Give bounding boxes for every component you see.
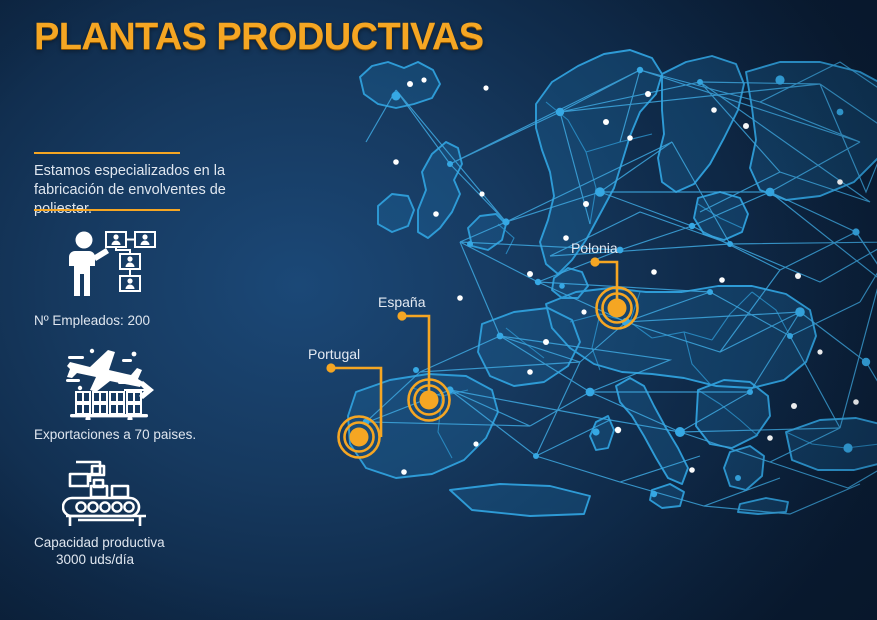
location-marker-espana <box>409 380 450 421</box>
connector-portugal <box>331 368 381 437</box>
marker-label-polonia: Polonia <box>571 240 618 256</box>
location-marker-portugal <box>339 417 380 458</box>
marker-label-espana: España <box>378 294 425 310</box>
label-dot-espana <box>397 311 406 320</box>
infographic-canvas: PLANTAS PRODUCTIVAS Estamos especializad… <box>0 0 877 620</box>
marker-label-portugal: Portugal <box>308 346 360 362</box>
label-dot-polonia <box>590 257 599 266</box>
map-markers: Portugal España Polonia <box>0 0 877 620</box>
location-marker-polonia <box>597 288 638 329</box>
label-dot-portugal <box>326 363 335 372</box>
